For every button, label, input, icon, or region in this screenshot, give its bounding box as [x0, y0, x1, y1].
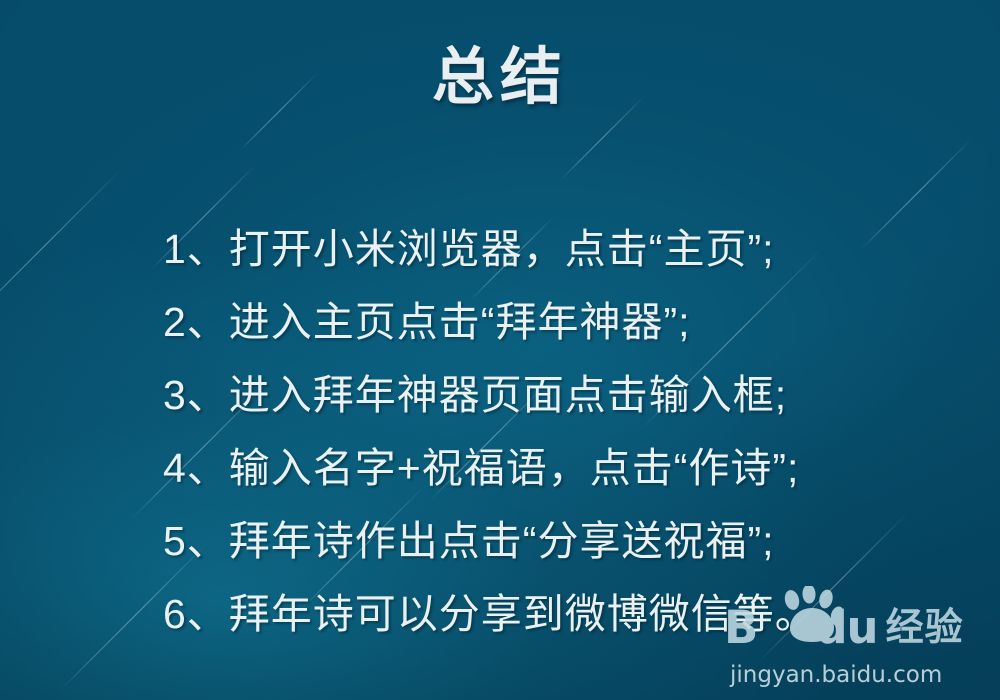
list-item: 4、输入名字+祝福语，点击“作诗”; [163, 432, 980, 505]
presentation-slide: 总结 1、打开小米浏览器，点击“主页”; 2、进入主页点击“拜年神器”; 3、进… [0, 0, 1000, 700]
slide-title: 总结 [0, 44, 1000, 112]
watermark-brand-row: Bdu 经验 [724, 592, 964, 654]
baidu-jingyan-watermark: Bdu 经验 jingyan.baidu.com [724, 586, 992, 694]
watermark-url: jingyan.baidu.com [730, 662, 942, 688]
watermark-jingyan-label: 经验 [886, 602, 964, 654]
baidu-logo-b: B [724, 601, 757, 654]
list-item: 5、拜年诗作出点击“分享送祝福”; [163, 505, 980, 578]
list-item: 1、打开小米浏览器，点击“主页”; [163, 213, 980, 286]
list-item: 3、进入拜年神器页面点击输入框; [163, 359, 980, 432]
list-item: 2、进入主页点击“拜年神器”; [163, 286, 980, 359]
baidu-logo-du: du [815, 601, 877, 654]
baidu-logo-text: Bdu [724, 602, 878, 654]
